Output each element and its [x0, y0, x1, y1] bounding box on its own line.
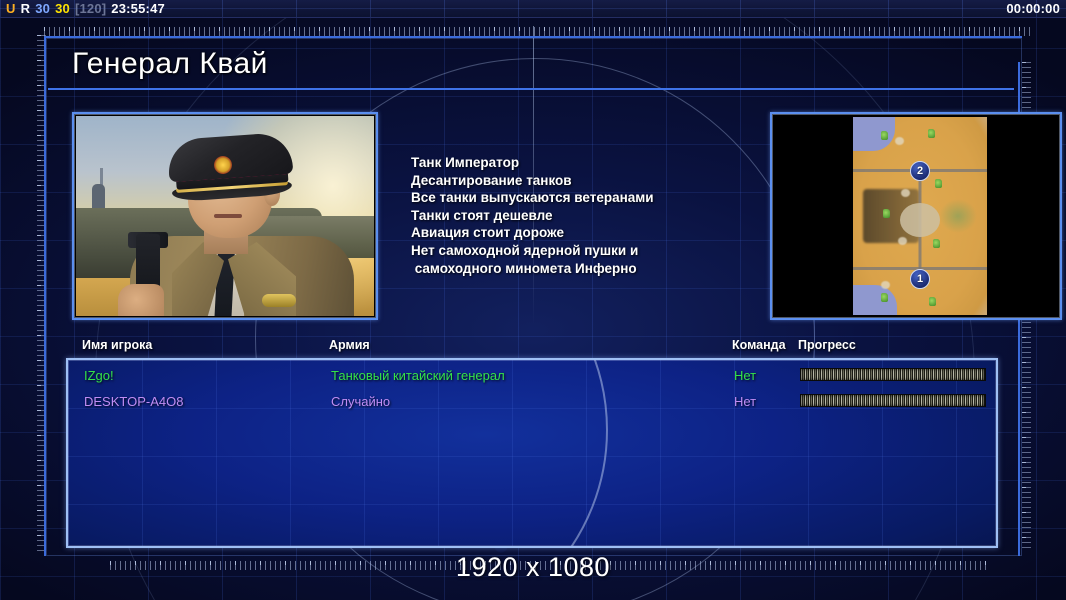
general-portrait [72, 112, 378, 320]
map-tree-icon [883, 209, 890, 218]
map-vegetation [939, 199, 977, 233]
status-left-group: UR 30 30 [120] 23:55:47 [6, 1, 165, 16]
column-header-name: Имя игрока [82, 338, 152, 352]
map-terrain: 2 1 [853, 117, 987, 315]
ability-line: Нет самоходной ядерной пушки и [411, 242, 741, 260]
player-team: Нет [734, 394, 756, 409]
map-tree-icon [935, 179, 942, 188]
officer-hand [118, 284, 164, 316]
status-bracket-value: [120] [75, 1, 106, 16]
player-name: IZgo! [84, 368, 114, 383]
status-u-label: U [6, 1, 16, 16]
ability-line: Авиация стоит дороже [411, 224, 741, 242]
ruler-top [44, 27, 1034, 36]
table-row[interactable]: IZgo! Танковый китайский генерал Нет [68, 368, 996, 392]
progress-bar [800, 394, 986, 407]
map-rock-icon [895, 137, 904, 145]
player-army: Случайно [331, 394, 390, 409]
column-header-progress: Прогресс [798, 338, 856, 352]
map-rock-icon [898, 237, 907, 245]
resolution-label: 1920 x 1080 [0, 552, 1066, 583]
title-bar: Генерал Квай [48, 40, 1014, 90]
player-name: DESKTOP-A4O8 [84, 394, 183, 409]
table-row[interactable]: DESKTOP-A4O8 Случайно Нет [68, 394, 996, 418]
progress-bar [800, 368, 986, 381]
status-value-2: 30 [55, 1, 70, 16]
map-rock-icon [901, 189, 910, 197]
ability-line: Все танки выпускаются ветеранами [411, 189, 741, 207]
player-progress [800, 368, 986, 381]
player-list-header: Имя игрока Армия Команда Прогресс [66, 338, 998, 358]
status-clock: 23:55:47 [111, 1, 165, 16]
map-tree-icon [929, 297, 936, 306]
player-army: Танковый китайский генерал [331, 368, 505, 383]
general-ability-list: Танк Император Десантирование танков Все… [411, 154, 741, 277]
ability-line: самоходного миномета Инферно [411, 260, 741, 278]
map-rock-icon [881, 281, 890, 289]
portrait-background-soldier [92, 184, 105, 210]
map-tree-icon [881, 131, 888, 140]
game-lobby-screen: UR 30 30 [120] 23:55:47 00:00:00 Генерал… [0, 0, 1066, 600]
officer-mouth [214, 214, 242, 218]
page-title: Генерал Квай [72, 47, 268, 81]
map-water-bottom-left [853, 285, 897, 315]
map-preview-inner: 2 1 [775, 117, 1057, 315]
status-timer: 00:00:00 [1006, 1, 1060, 16]
map-start-position-1[interactable]: 1 [910, 269, 930, 289]
column-header-team: Команда [732, 338, 786, 352]
general-info-row: Танк Император Десантирование танков Все… [66, 108, 998, 326]
player-list-panel: IZgo! Танковый китайский генерал Нет DES… [66, 358, 998, 548]
map-center-clearing [900, 203, 940, 237]
status-right-group: 00:00:00 [1006, 1, 1060, 16]
officer-badge-icon [262, 294, 296, 307]
ability-line: Десантирование танков [411, 172, 741, 190]
player-progress [800, 394, 986, 407]
map-water-top-left [853, 117, 895, 151]
column-header-army: Армия [329, 338, 370, 352]
map-tree-icon [933, 239, 940, 248]
status-r-label: R [21, 1, 31, 16]
ability-line: Танки стоят дешевле [411, 207, 741, 225]
map-tree-icon [881, 293, 888, 302]
player-team: Нет [734, 368, 756, 383]
top-status-bar: UR 30 30 [120] 23:55:47 00:00:00 [0, 0, 1066, 18]
portrait-image [76, 116, 374, 316]
map-start-position-2[interactable]: 2 [910, 161, 930, 181]
status-value-1: 30 [35, 1, 50, 16]
map-tree-icon [928, 129, 935, 138]
map-preview[interactable]: 2 1 [770, 112, 1062, 320]
ability-line: Танк Император [411, 154, 741, 172]
